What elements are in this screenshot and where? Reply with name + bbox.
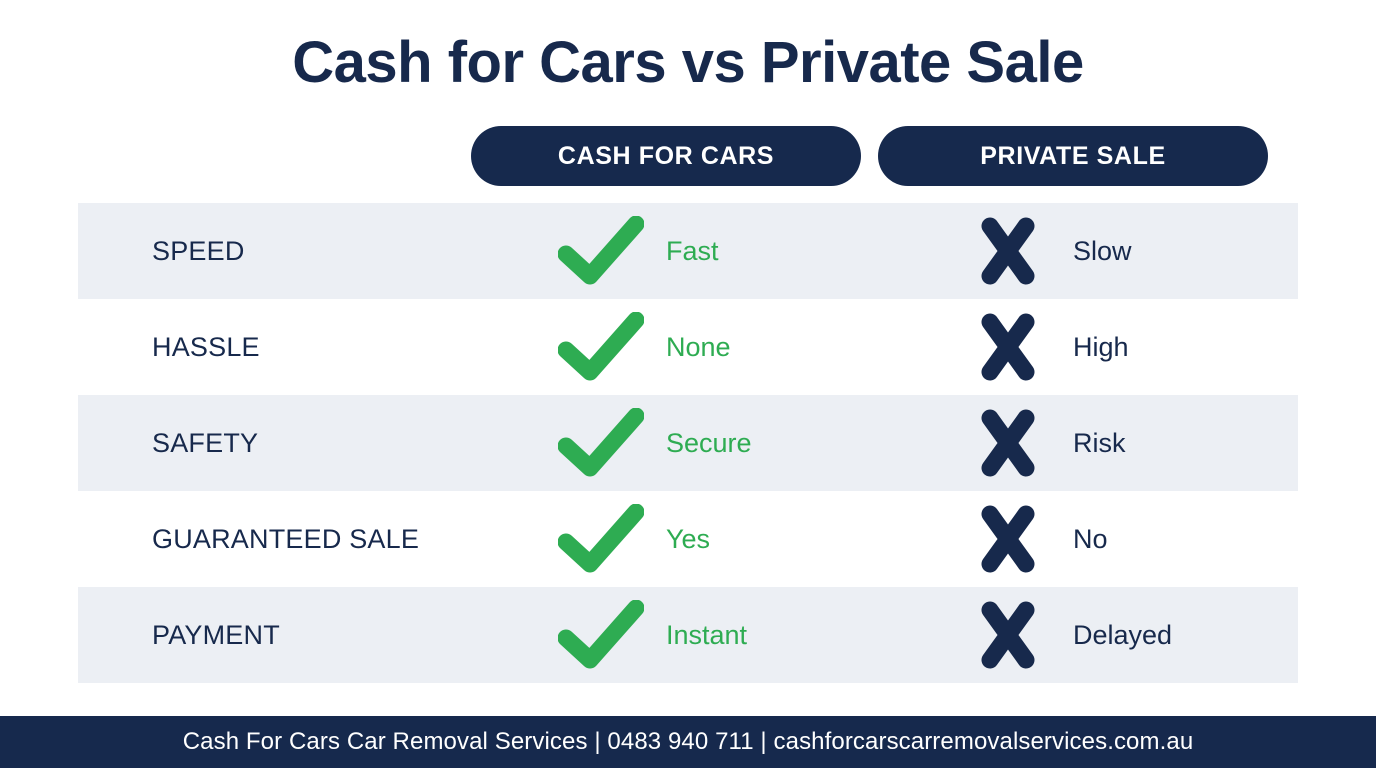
cross-icon bbox=[965, 600, 1051, 670]
row-cell-cash: Instant bbox=[558, 600, 747, 670]
column-header-private-label: PRIVATE SALE bbox=[980, 142, 1165, 171]
row-cell-private: No bbox=[965, 504, 1108, 574]
row-label: PAYMENT bbox=[152, 620, 280, 651]
row-value-private: No bbox=[1073, 526, 1108, 553]
column-header-row: CASH FOR CARS PRIVATE SALE bbox=[0, 126, 1376, 203]
row-value-cash: Instant bbox=[666, 622, 747, 649]
check-icon bbox=[558, 216, 644, 286]
table-row: SAFETY Secure Risk bbox=[78, 395, 1298, 491]
row-label: SPEED bbox=[152, 236, 245, 267]
row-cell-cash: None bbox=[558, 312, 731, 382]
comparison-infographic: Cash for Cars vs Private Sale CASH FOR C… bbox=[0, 0, 1376, 768]
row-cell-private: Slow bbox=[965, 216, 1132, 286]
row-value-cash: Yes bbox=[666, 526, 710, 553]
cross-icon bbox=[965, 504, 1051, 574]
footer-contact-text: Cash For Cars Car Removal Services | 048… bbox=[183, 728, 1194, 756]
row-value-private: Slow bbox=[1073, 238, 1132, 265]
check-icon bbox=[558, 312, 644, 382]
cross-icon bbox=[965, 408, 1051, 478]
check-icon bbox=[558, 408, 644, 478]
table-row: GUARANTEED SALE Yes No bbox=[78, 491, 1298, 587]
row-cell-cash: Yes bbox=[558, 504, 710, 574]
column-header-cash-label: CASH FOR CARS bbox=[558, 142, 774, 171]
table-row: SPEED Fast Slow bbox=[78, 203, 1298, 299]
row-value-private: Risk bbox=[1073, 430, 1126, 457]
table-row: PAYMENT Instant Delayed bbox=[78, 587, 1298, 683]
cross-icon bbox=[965, 312, 1051, 382]
row-cell-private: Delayed bbox=[965, 600, 1172, 670]
column-header-cash-for-cars: CASH FOR CARS bbox=[471, 126, 861, 186]
row-value-cash: Secure bbox=[666, 430, 752, 457]
row-cell-cash: Secure bbox=[558, 408, 752, 478]
page-title: Cash for Cars vs Private Sale bbox=[292, 34, 1083, 92]
row-label: SAFETY bbox=[152, 428, 258, 459]
column-header-private-sale: PRIVATE SALE bbox=[878, 126, 1268, 186]
row-value-private: High bbox=[1073, 334, 1129, 361]
row-cell-private: High bbox=[965, 312, 1129, 382]
comparison-rows: SPEED Fast Slow HASSLE bbox=[0, 203, 1376, 683]
row-value-cash: None bbox=[666, 334, 731, 361]
row-label: HASSLE bbox=[152, 332, 260, 363]
check-icon bbox=[558, 600, 644, 670]
title-container: Cash for Cars vs Private Sale bbox=[0, 0, 1376, 126]
table-row: HASSLE None High bbox=[78, 299, 1298, 395]
footer-bar: Cash For Cars Car Removal Services | 048… bbox=[0, 716, 1376, 768]
row-label: GUARANTEED SALE bbox=[152, 524, 419, 555]
row-value-cash: Fast bbox=[666, 238, 719, 265]
row-value-private: Delayed bbox=[1073, 622, 1172, 649]
row-cell-private: Risk bbox=[965, 408, 1126, 478]
cross-icon bbox=[965, 216, 1051, 286]
check-icon bbox=[558, 504, 644, 574]
row-cell-cash: Fast bbox=[558, 216, 719, 286]
